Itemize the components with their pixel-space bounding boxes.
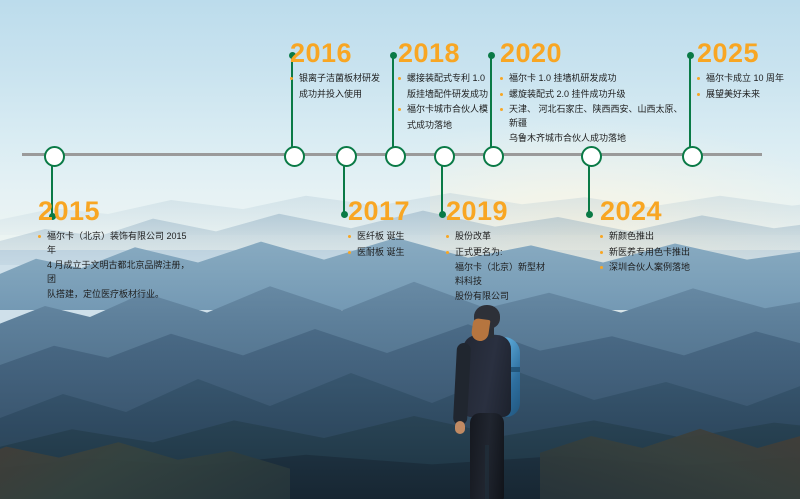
- bullet-list-2018: 螺接装配式专利 1.0版挂墙配件研发成功福尔卡城市合伙人模式成功落地: [398, 72, 502, 132]
- bullet-text: 正式更名为:: [455, 247, 503, 257]
- bullet-dot-icon: [38, 235, 41, 238]
- timeline-node-2015[interactable]: [44, 146, 65, 167]
- bullet-item: 式成功落地: [398, 119, 502, 133]
- year-label-2019: 2019: [446, 196, 550, 226]
- bullet-text: 4 月成立于文明古都北京品牌注册，团: [47, 260, 190, 284]
- bullet-dot-icon: [446, 235, 449, 238]
- bullet-dot-icon: [697, 77, 700, 80]
- year-label-2017: 2017: [348, 196, 444, 226]
- bullet-item: 新医养专用色卡推出: [600, 246, 728, 260]
- bullet-list-2020: 福尔卡 1.0 挂墙机研发成功螺旋装配式 2.0 挂件成功升级天津、 河北石家庄…: [500, 72, 686, 146]
- bullet-item: 新颜色推出: [600, 230, 728, 244]
- year-label-2015: 2015: [38, 196, 190, 226]
- year-label-2016: 2016: [290, 38, 398, 68]
- timeline-entry-2020[interactable]: 2020福尔卡 1.0 挂墙机研发成功螺旋装配式 2.0 挂件成功升级天津、 河…: [500, 38, 686, 148]
- bullet-item: 乌鲁木齐城市合伙人成功落地: [500, 132, 686, 146]
- bullet-text: 股份有限公司: [455, 291, 509, 301]
- year-label-2025: 2025: [697, 38, 797, 68]
- year-label-2024: 2024: [600, 196, 728, 226]
- bullet-text: 天津、 河北石家庄、陕西西安、山西太原、新疆: [509, 104, 683, 128]
- bullet-text: 银离子洁菌板材研发: [299, 73, 380, 83]
- bullet-dot-icon: [446, 251, 449, 254]
- timeline-node-2024[interactable]: [581, 146, 602, 167]
- bullet-item: 螺接装配式专利 1.0: [398, 72, 502, 86]
- timeline-node-2016[interactable]: [284, 146, 305, 167]
- bullet-text: 福尔卡（北京）新型材料科技: [455, 262, 545, 286]
- bullet-text: 螺旋装配式 2.0 挂件成功升级: [509, 89, 626, 99]
- bullet-text: 医纤板 诞生: [357, 231, 405, 241]
- bullet-text: 版挂墙配件研发成功: [407, 89, 488, 99]
- bullet-item: 福尔卡 1.0 挂墙机研发成功: [500, 72, 686, 86]
- bullet-text: 新医养专用色卡推出: [609, 247, 690, 257]
- bullet-text: 新颜色推出: [609, 231, 654, 241]
- bullet-item: 银离子洁菌板材研发: [290, 72, 398, 86]
- bullet-dot-icon: [398, 77, 401, 80]
- bullet-item: 4 月成立于文明古都北京品牌注册，团: [38, 259, 190, 286]
- bullet-dot-icon: [600, 235, 603, 238]
- bullet-item: 版挂墙配件研发成功: [398, 88, 502, 102]
- bullet-item: 股份改革: [446, 230, 550, 244]
- timeline-entry-2016[interactable]: 2016银离子洁菌板材研发成功并投入使用: [290, 38, 398, 103]
- bullet-text: 股份改革: [455, 231, 491, 241]
- timeline-entry-2017[interactable]: 2017医纤板 诞生医耐板 诞生: [348, 196, 444, 261]
- bullet-item: 队搭建，定位医疗板材行业。: [38, 288, 190, 302]
- bullet-item: 福尔卡成立 10 周年: [697, 72, 797, 86]
- bullet-text: 福尔卡城市合伙人模: [407, 104, 488, 114]
- timeline-node-2020[interactable]: [483, 146, 504, 167]
- bullet-text: 螺接装配式专利 1.0: [407, 73, 485, 83]
- year-label-2018: 2018: [398, 38, 502, 68]
- timeline-node-2018[interactable]: [385, 146, 406, 167]
- bullet-dot-icon: [600, 266, 603, 269]
- bullet-dot-icon: [697, 93, 700, 96]
- hiker-leg-gap: [485, 445, 489, 499]
- bullet-text: 福尔卡 1.0 挂墙机研发成功: [509, 73, 617, 83]
- timeline-stem-2025: [689, 55, 691, 153]
- timeline-node-2017[interactable]: [336, 146, 357, 167]
- bullet-item: 医耐板 诞生: [348, 246, 444, 260]
- bullet-item: 医纤板 诞生: [348, 230, 444, 244]
- timeline-entry-2015[interactable]: 2015福尔卡（北京）装饰有限公司 2015 年4 月成立于文明古都北京品牌注册…: [38, 196, 190, 304]
- bullet-list-2025: 福尔卡成立 10 周年展望美好未来: [697, 72, 797, 101]
- bullet-dot-icon: [348, 251, 351, 254]
- timeline-entry-2018[interactable]: 2018螺接装配式专利 1.0版挂墙配件研发成功福尔卡城市合伙人模式成功落地: [398, 38, 502, 134]
- bullet-item: 深圳合伙人案例落地: [600, 261, 728, 275]
- hiker-figure: [430, 305, 550, 499]
- bullet-dot-icon: [500, 93, 503, 96]
- bullet-item: 展望美好未来: [697, 88, 797, 102]
- bullet-dot-icon: [348, 235, 351, 238]
- bullet-text: 福尔卡（北京）装饰有限公司 2015 年: [47, 231, 187, 255]
- timeline-stem-dot-2017: [341, 211, 348, 218]
- bullet-item: 福尔卡城市合伙人模: [398, 103, 502, 117]
- bullet-item: 天津、 河北石家庄、陕西西安、山西太原、新疆: [500, 103, 686, 130]
- bullet-dot-icon: [398, 108, 401, 111]
- bullet-text: 队搭建，定位医疗板材行业。: [47, 289, 164, 299]
- bullet-text: 式成功落地: [407, 120, 452, 130]
- timeline-infographic: 2015福尔卡（北京）装饰有限公司 2015 年4 月成立于文明古都北京品牌注册…: [0, 0, 800, 499]
- bullet-item: 正式更名为:: [446, 246, 550, 260]
- bullet-list-2016: 银离子洁菌板材研发成功并投入使用: [290, 72, 398, 101]
- bullet-text: 深圳合伙人案例落地: [609, 262, 690, 272]
- bullet-list-2017: 医纤板 诞生医耐板 诞生: [348, 230, 444, 259]
- bullet-item: 福尔卡（北京）装饰有限公司 2015 年: [38, 230, 190, 257]
- bullet-item: 福尔卡（北京）新型材料科技: [446, 261, 550, 288]
- timeline-stem-dot-2024: [586, 211, 593, 218]
- timeline-entry-2024[interactable]: 2024新颜色推出新医养专用色卡推出深圳合伙人案例落地: [600, 196, 728, 277]
- bullet-text: 福尔卡成立 10 周年: [706, 73, 784, 83]
- bullet-dot-icon: [500, 77, 503, 80]
- timeline-node-2019[interactable]: [434, 146, 455, 167]
- bullet-item: 螺旋装配式 2.0 挂件成功升级: [500, 88, 686, 102]
- timeline-entry-2019[interactable]: 2019股份改革正式更名为:福尔卡（北京）新型材料科技股份有限公司: [446, 196, 550, 306]
- bullet-text: 医耐板 诞生: [357, 247, 405, 257]
- timeline-entry-2025[interactable]: 2025福尔卡成立 10 周年展望美好未来: [697, 38, 797, 103]
- hiker-hand: [455, 421, 465, 434]
- bullet-list-2019: 股份改革正式更名为:福尔卡（北京）新型材料科技股份有限公司: [446, 230, 550, 304]
- year-label-2020: 2020: [500, 38, 686, 68]
- bullet-dot-icon: [500, 108, 503, 111]
- bullet-item: 股份有限公司: [446, 290, 550, 304]
- bullet-item: 成功并投入使用: [290, 88, 398, 102]
- timeline-node-2025[interactable]: [682, 146, 703, 167]
- bullet-dot-icon: [600, 251, 603, 254]
- bullet-dot-icon: [290, 77, 293, 80]
- timeline-stem-dot-2025: [687, 52, 694, 59]
- bullet-text: 乌鲁木齐城市合伙人成功落地: [509, 133, 626, 143]
- bullet-list-2015: 福尔卡（北京）装饰有限公司 2015 年4 月成立于文明古都北京品牌注册，团队搭…: [38, 230, 190, 302]
- bullet-text: 展望美好未来: [706, 89, 760, 99]
- bullet-list-2024: 新颜色推出新医养专用色卡推出深圳合伙人案例落地: [600, 230, 728, 275]
- bullet-text: 成功并投入使用: [299, 89, 362, 99]
